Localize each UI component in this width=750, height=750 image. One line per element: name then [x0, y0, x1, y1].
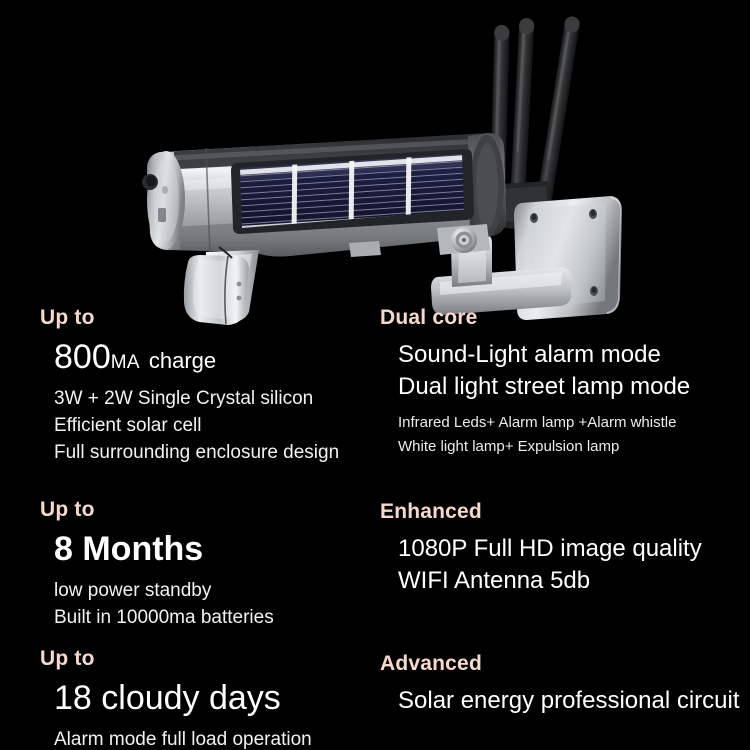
standby-kicker: Up to: [40, 497, 390, 523]
product-feature-poster: Up to 800MAcharge 3W + 2W Single Crystal…: [0, 0, 750, 750]
enhanced-kicker: Enhanced: [380, 499, 750, 525]
enhanced-feature-2: WIFI Antenna 5db: [380, 565, 750, 597]
product-image-solar-camera: [0, 0, 750, 330]
pivot-joint: [437, 224, 490, 255]
enhanced-block: Enhanced 1080P Full HD image quality WIF…: [380, 499, 750, 597]
wifi-antennas: [483, 15, 581, 229]
standby-block: Up to 8 Months low power standby Built i…: [40, 497, 390, 632]
advanced-block: Advanced Solar energy professional circu…: [380, 651, 750, 717]
charge-line-3: Full surrounding enclosure design: [40, 440, 390, 467]
standby-headline: 8 Months: [40, 529, 390, 570]
left-feature-column: Up to 800MAcharge 3W + 2W Single Crystal…: [40, 305, 390, 750]
dual-core-feature-1: Sound-Light alarm mode: [380, 339, 750, 371]
charge-word: charge: [140, 348, 216, 373]
charge-line-2: Efficient solar cell: [40, 413, 390, 440]
standby-line-1: low power standby: [40, 578, 390, 605]
solar-panel: [230, 138, 480, 241]
charge-line-1: 3W + 2W Single Crystal silicon: [40, 386, 390, 413]
cloudy-block: Up to 18 cloudy days Alarm mode full loa…: [40, 646, 390, 750]
dual-core-detail-2: White light lamp+ Expulsion lamp: [380, 435, 750, 459]
charge-headline: 800MAcharge: [40, 337, 390, 378]
cloudy-headline: 18 cloudy days: [40, 678, 390, 719]
right-feature-column: Dual core Sound-Light alarm mode Dual li…: [380, 305, 750, 717]
enhanced-feature-1: 1080P Full HD image quality: [380, 533, 750, 565]
camera-body: [142, 133, 506, 257]
advanced-kicker: Advanced: [380, 651, 750, 677]
dual-core-block: Dual core Sound-Light alarm mode Dual li…: [380, 305, 750, 459]
charge-value: 800: [54, 338, 111, 376]
advanced-feature-1: Solar energy professional circuit: [380, 685, 750, 717]
charge-unit: MA: [111, 352, 140, 373]
dual-core-detail-1: Infrared Leds+ Alarm lamp +Alarm whistle: [380, 411, 750, 435]
cloudy-kicker: Up to: [40, 646, 390, 672]
charge-kicker: Up to: [40, 305, 390, 331]
standby-line-2: Built in 10000ma batteries: [40, 605, 390, 632]
charge-block: Up to 800MAcharge 3W + 2W Single Crystal…: [40, 305, 390, 467]
cloudy-line-1: Alarm mode full load operation: [40, 727, 390, 750]
dual-core-feature-2: Dual light street lamp mode: [380, 371, 750, 403]
dual-core-kicker: Dual core: [380, 305, 750, 331]
wall-mount-bracket: [431, 196, 621, 320]
